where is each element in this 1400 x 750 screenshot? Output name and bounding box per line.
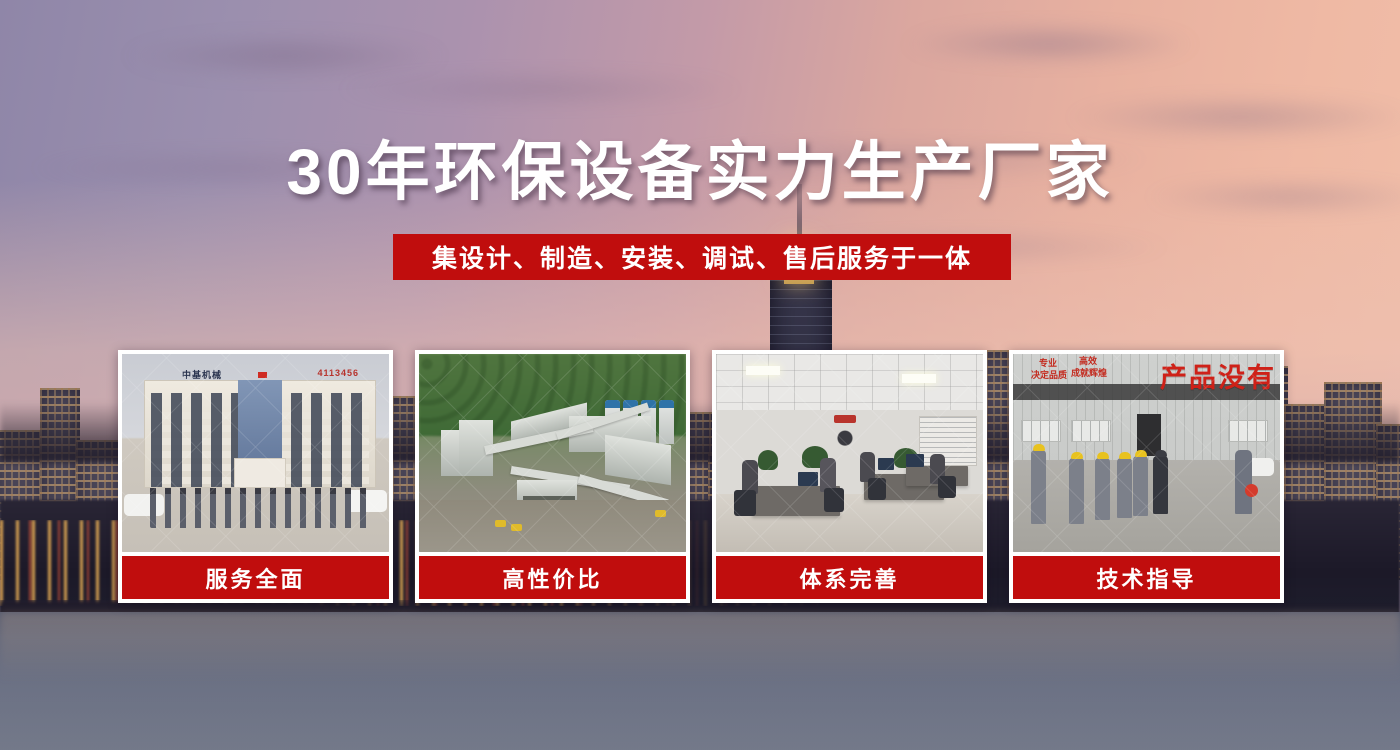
cloud [900,24,1200,64]
feature-card[interactable]: 中基机械 4113456 服务全面 [118,350,393,603]
factory-slogan-small: 专业 [1039,358,1057,368]
subtitle-text: 集设计、制造、安装、调试、售后服务于一体 [432,239,972,275]
river-reflection [0,612,1400,682]
card-photo-office [716,354,983,552]
card-caption: 高性价比 [419,556,686,599]
subtitle-banner: 集设计、制造、安装、调试、售后服务于一体 [393,234,1011,280]
card-photo-workers: 产品没有 专业 决定品质 高效 成就辉煌 [1013,354,1280,552]
cloud [120,34,450,78]
factory-slogan-small: 成就辉煌 [1071,368,1107,378]
building-phone-text: 4113456 [317,368,359,378]
page-title: 30年环保设备实力生产厂家 [0,138,1400,207]
card-caption: 体系完善 [716,556,983,599]
cloud [1060,96,1400,138]
factory-slogan-small: 高效 [1079,356,1097,366]
card-photo-headquarters: 中基机械 4113456 [122,354,389,552]
feature-card-list: 中基机械 4113456 服务全面 [118,350,1284,603]
card-photo-plant [419,354,686,552]
hero-banner: 30年环保设备实力生产厂家 集设计、制造、安装、调试、售后服务于一体 中基机械 … [0,0,1400,750]
cloud [330,72,750,106]
card-caption: 技术指导 [1013,556,1280,599]
feature-card[interactable]: 产品没有 专业 决定品质 高效 成就辉煌 [1009,350,1284,603]
building-sign-text: 中基机械 [182,368,222,381]
feature-card[interactable]: 高性价比 [415,350,690,603]
feature-card[interactable]: 体系完善 [712,350,987,603]
factory-slogan-large: 产品没有 [1160,356,1276,395]
card-caption: 服务全面 [122,556,389,599]
factory-slogan-small: 决定品质 [1031,370,1067,380]
